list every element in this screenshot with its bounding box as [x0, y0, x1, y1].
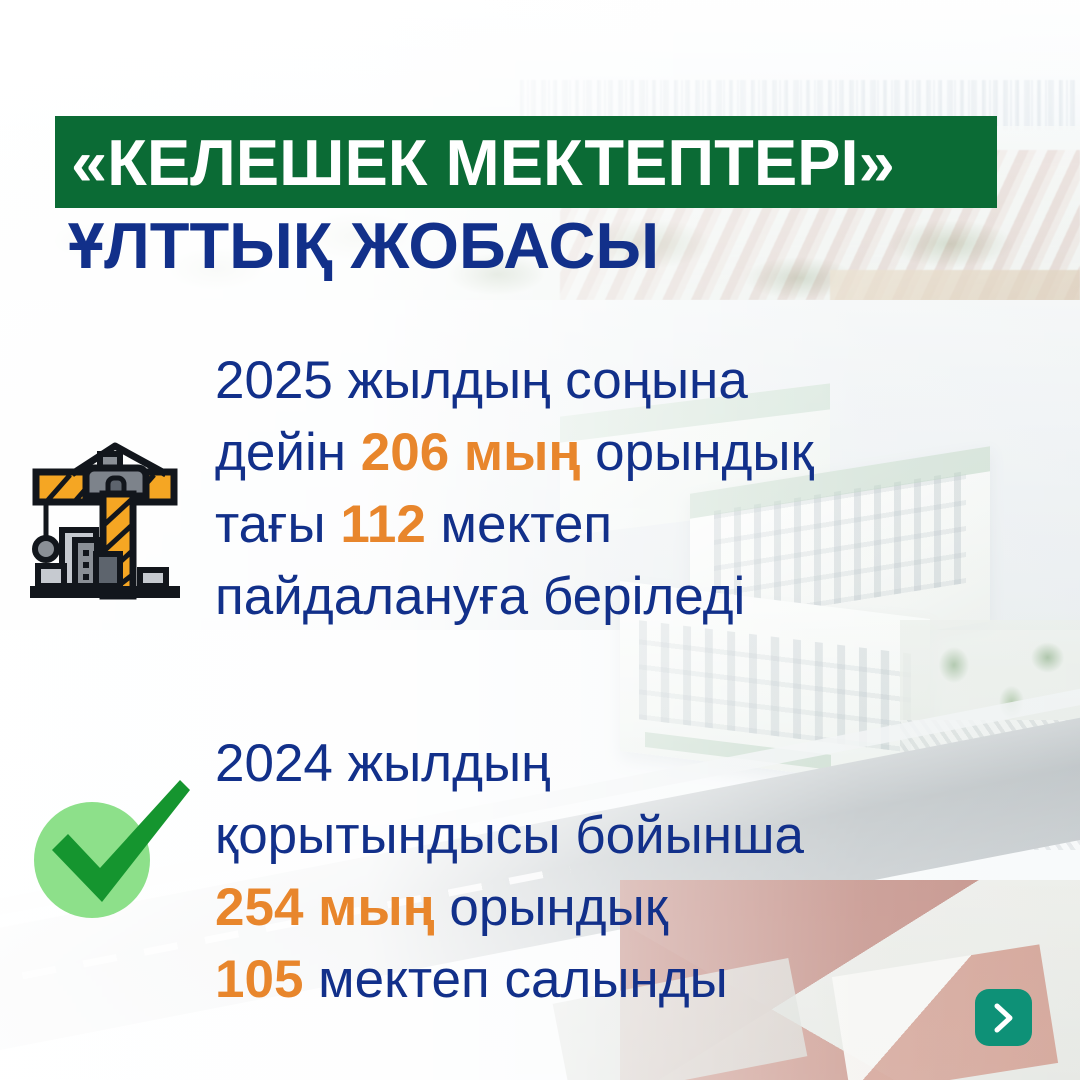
text-run: қорытындысы бойынша	[215, 806, 804, 865]
infographic-canvas: «КЕЛЕШЕК МЕКТЕПТЕРІ» ҰЛТТЫҚ ЖОБАСЫ	[0, 0, 1080, 1080]
highlight-value: 105	[215, 950, 303, 1009]
text-line: қорытындысы бойынша	[215, 800, 915, 872]
page-title: «КЕЛЕШЕК МЕКТЕПТЕРІ»	[55, 130, 895, 195]
next-slide-button[interactable]	[975, 989, 1032, 1046]
stat-block-done-text: 2024 жылдыңқорытындысы бойынша254 мың ор…	[215, 728, 915, 1016]
highlight-value: 206 мың	[361, 423, 581, 482]
stat-block-future-text: 2025 жылдың соңынадейін 206 мың орындықт…	[215, 345, 1005, 633]
chevron-right-icon	[993, 1003, 1015, 1033]
text-run: мектеп салынды	[303, 950, 727, 1009]
text-run: дейін	[215, 423, 361, 482]
text-line: тағы 112 мектеп	[215, 489, 1005, 561]
highlight-value: 254 мың	[215, 878, 435, 937]
construction-crane-icon	[20, 432, 190, 604]
text-run: 2025 жылдың соңына	[215, 351, 748, 410]
text-run: 2024 жылдың	[215, 734, 550, 793]
page-subtitle: ҰЛТТЫҚ ЖОБАСЫ	[68, 213, 659, 278]
text-run: пайдалануға беріледі	[215, 567, 745, 626]
text-run: тағы	[215, 495, 340, 554]
text-line: 254 мың орындық	[215, 872, 915, 944]
text-line: дейін 206 мың орындық	[215, 417, 1005, 489]
text-line: пайдалануға беріледі	[215, 561, 1005, 633]
title-banner: «КЕЛЕШЕК МЕКТЕПТЕРІ»	[55, 116, 997, 208]
text-line: 2024 жылдың	[215, 728, 915, 800]
green-checkmark-icon	[30, 772, 200, 937]
text-run: мектеп	[426, 495, 612, 554]
text-line: 2025 жылдың соңына	[215, 345, 1005, 417]
text-line: 105 мектеп салынды	[215, 944, 915, 1016]
text-run: орындық	[580, 423, 813, 482]
stat-block-future: 2025 жылдың соңынадейін 206 мың орындықт…	[215, 345, 1005, 633]
text-run: орындық	[435, 878, 668, 937]
highlight-value: 112	[340, 495, 426, 554]
stat-block-done: 2024 жылдыңқорытындысы бойынша254 мың ор…	[215, 728, 915, 1016]
